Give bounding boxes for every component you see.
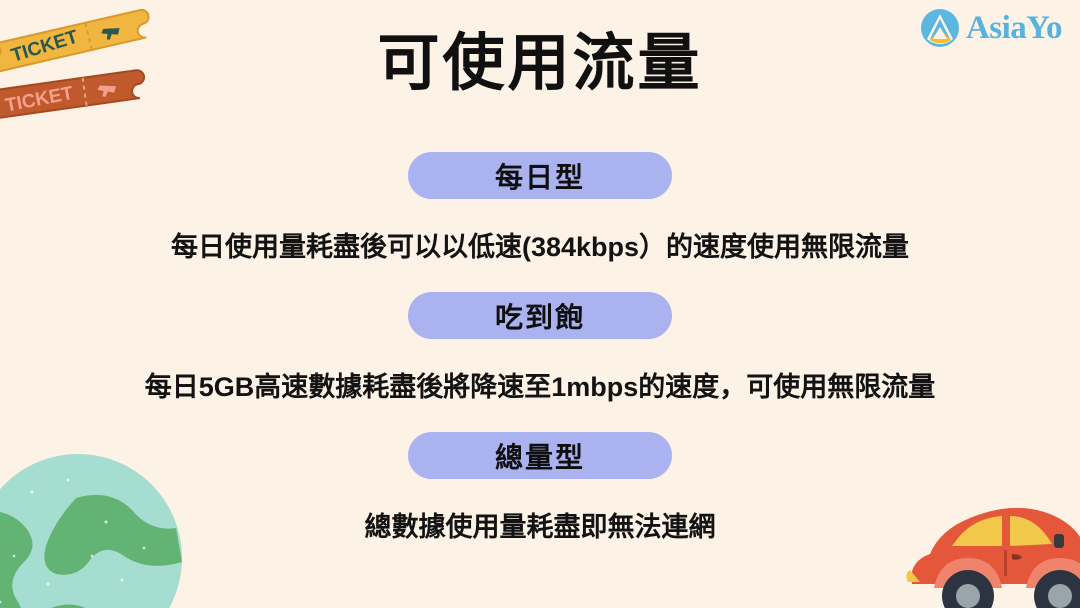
car-door-handle: [1012, 554, 1022, 560]
slide-canvas: TICKET TICKET: [0, 0, 1080, 608]
car-wheel-arch-rear: [1026, 558, 1080, 588]
car-door-seam: [1004, 550, 1007, 576]
car-wheel-arch-front: [934, 558, 1002, 588]
plan-description-total: 總數據使用量耗盡即無法連網: [365, 505, 716, 544]
plan-badge-unlimited[interactable]: 吃到飽: [408, 292, 672, 339]
plan-description-daily: 每日使用量耗盡後可以以低速(384kbps）的速度使用無限流量: [171, 225, 909, 264]
plan-description-unlimited: 每日5GB高速數據耗盡後將降速至1mbps的速度，可使用無限流量: [145, 365, 936, 404]
car-headlight: [906, 570, 920, 582]
globe-landmass-south: [40, 604, 146, 608]
car-wheel-rear: [1034, 570, 1080, 608]
car-wheel-front: [942, 570, 994, 608]
page-title: 可使用流量: [0, 28, 1080, 99]
plan-section-total: 總量型 總數據使用量耗盡即無法連網: [0, 432, 1080, 544]
plan-section-daily: 每日型 每日使用量耗盡後可以以低速(384kbps）的速度使用無限流量: [0, 152, 1080, 264]
plan-section-unlimited: 吃到飽 每日5GB高速數據耗盡後將降速至1mbps的速度，可使用無限流量: [0, 292, 1080, 404]
plan-badge-daily[interactable]: 每日型: [408, 152, 672, 199]
car-hubcap-front: [956, 584, 980, 608]
plan-badge-total[interactable]: 總量型: [408, 432, 672, 479]
plan-sections: 每日型 每日使用量耗盡後可以以低速(384kbps）的速度使用無限流量 吃到飽 …: [0, 152, 1080, 544]
car-hubcap-rear: [1048, 584, 1072, 608]
